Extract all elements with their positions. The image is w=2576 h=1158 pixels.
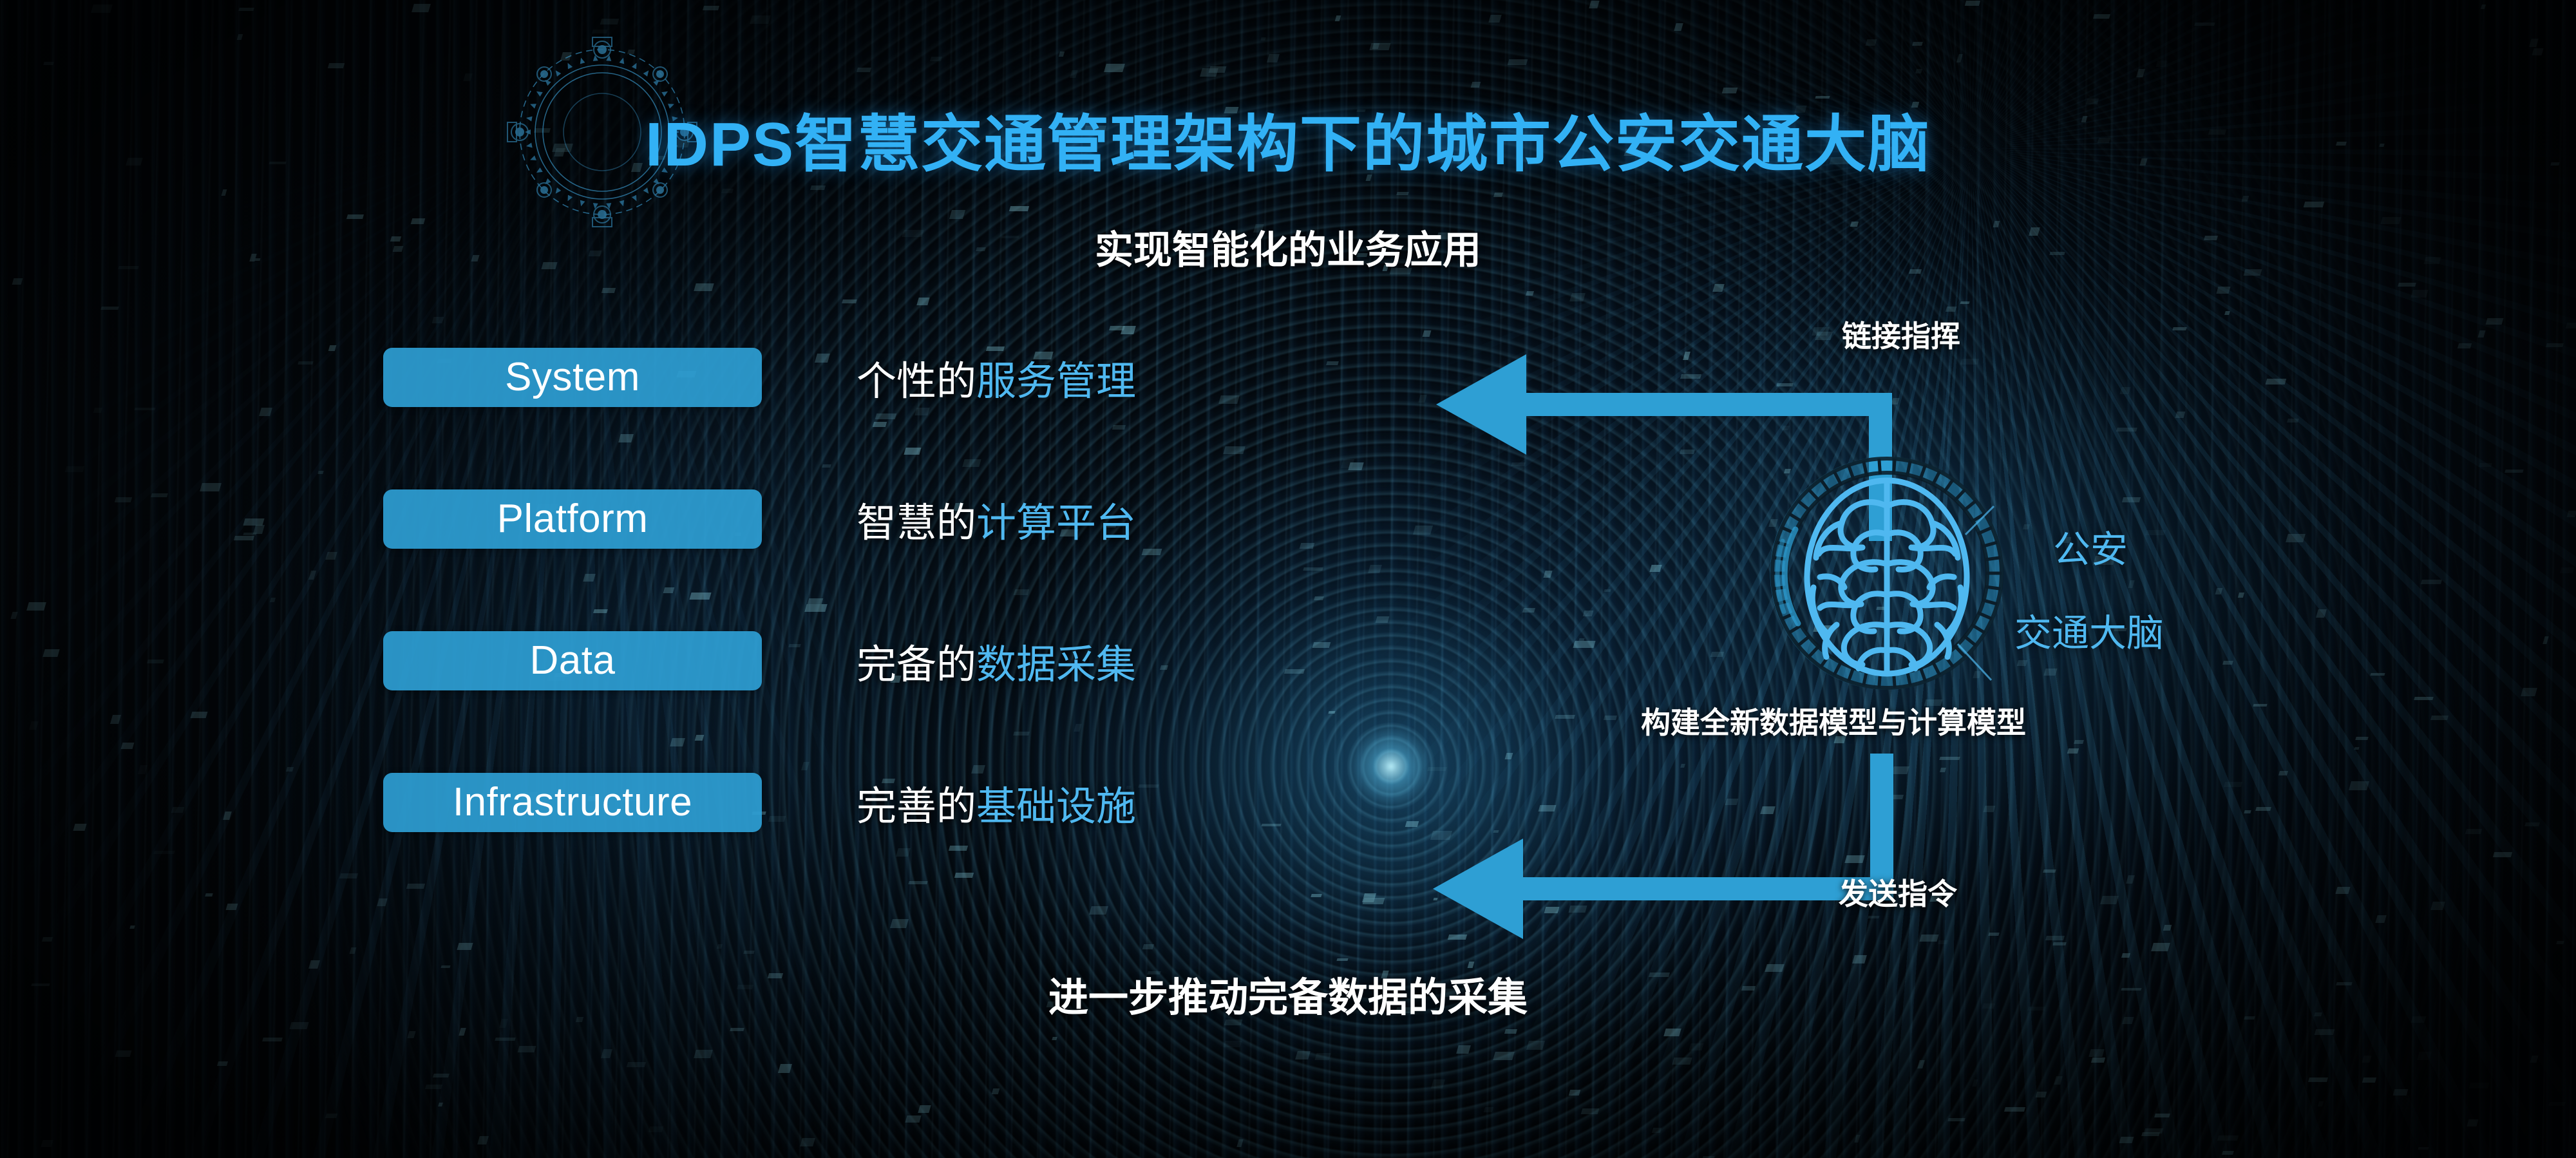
phrase-list: 个性的服务管理 智慧的计算平台 完备的数据采集 完善的基础设施 (857, 348, 1372, 832)
layer-box-data[interactable]: Data (383, 631, 762, 690)
layer-box-infrastructure[interactable]: Infrastructure (383, 773, 762, 832)
phrase-accent: 计算平台 (976, 490, 1136, 548)
phrase-plain: 个性的 (857, 348, 976, 406)
layer-label: Data (530, 641, 616, 681)
phrase-accent: 基础设施 (976, 774, 1136, 831)
phrase-data-collection: 完备的数据采集 (857, 631, 1372, 690)
phrase-plain: 完备的 (857, 632, 976, 690)
brain-caption: 构建全新数据模型与计算模型 (1641, 699, 2026, 742)
layer-label: Infrastructure (453, 783, 692, 822)
phrase-accent: 数据采集 (976, 632, 1136, 690)
brain-label-line-1: 公安 (2053, 519, 2128, 573)
page-title: IDPS智慧交通管理架构下的城市公安交通大脑 (0, 94, 2576, 184)
layer-label: System (505, 357, 640, 397)
flow-label-send-instruction: 发送指令 (1839, 871, 1957, 913)
phrase-service-management: 个性的服务管理 (857, 348, 1372, 407)
phrase-infrastructure: 完善的基础设施 (857, 773, 1372, 832)
caption-bottom: 进一步推动完备数据的采集 (0, 965, 2576, 1023)
layer-label: Platform (497, 499, 649, 539)
page-subtitle: 实现智能化的业务应用 (0, 219, 2576, 275)
phrase-accent: 服务管理 (976, 348, 1136, 406)
phrase-plain: 智慧的 (857, 490, 976, 548)
phrase-computing-platform: 智慧的计算平台 (857, 489, 1372, 549)
layer-box-system[interactable]: System (383, 348, 762, 407)
brain-icon (1765, 451, 2009, 696)
phrase-plain: 完善的 (857, 774, 976, 831)
brain-label-line-2: 交通大脑 (2014, 603, 2164, 657)
layer-box-platform[interactable]: Platform (383, 489, 762, 549)
brain-graphic (1765, 451, 2009, 696)
layer-stack: System Platform Data Infrastructure (383, 348, 763, 832)
slide-canvas: IDPS智慧交通管理架构下的城市公安交通大脑 实现智能化的业务应用 System… (0, 0, 2576, 1158)
flow-label-link-command: 链接指挥 (1842, 313, 1960, 356)
arrow-send-instruction-icon (1410, 754, 1945, 966)
